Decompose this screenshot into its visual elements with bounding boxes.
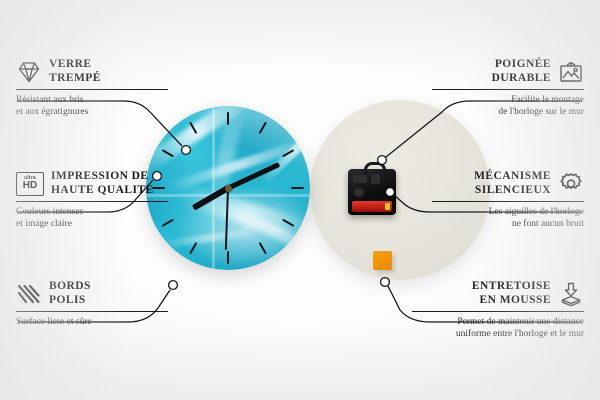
callout-rule	[16, 89, 168, 90]
callout-title: VERRETREMPÉ	[49, 58, 101, 85]
callout-title: BORDSPOLIS	[49, 280, 91, 307]
callout-description: Les aiguilles de l'horlogene font aucun …	[432, 206, 584, 230]
diamond-icon	[16, 59, 42, 85]
clock-tick	[259, 122, 267, 134]
callout-entretoise-en-mousse[interactable]: ENTRETOISEEN MOUSSE Permet de maintenir …	[412, 280, 584, 340]
callout-header: ultra HD IMPRESSION DEHAUTE QUALITÉ	[16, 170, 168, 197]
polished-edges-icon	[16, 281, 42, 307]
foam-spacer	[373, 251, 392, 270]
callout-description: Facilite le montagede l'horloge sur le m…	[432, 94, 584, 118]
feather-texture	[154, 226, 264, 249]
clock-tick	[227, 112, 229, 125]
clock-face	[146, 106, 310, 270]
callout-rule	[432, 89, 584, 90]
callout-rule	[16, 201, 168, 202]
callout-mecanisme-silencieux[interactable]: MÉCANISMESILENCIEUX Les aiguilles de l'h…	[432, 170, 584, 230]
picture-frame-icon	[558, 59, 584, 85]
clock-tick	[259, 242, 267, 254]
callout-header: VERRETREMPÉ	[16, 58, 168, 85]
ultra-hd-icon: ultra HD	[16, 172, 44, 196]
callout-rule	[412, 311, 584, 312]
callout-title: ENTRETOISEEN MOUSSE	[472, 280, 551, 307]
glass-reflection	[212, 106, 215, 270]
callout-rule	[16, 311, 168, 312]
callout-header: MÉCANISMESILENCIEUX	[432, 170, 584, 197]
callout-impression-haute-qualite[interactable]: ultra HD IMPRESSION DEHAUTE QUALITÉ Coul…	[16, 170, 168, 230]
callout-header: POIGNÉEDURABLE	[432, 58, 584, 85]
clock-tick	[227, 251, 229, 264]
callout-header: BORDSPOLIS	[16, 280, 168, 307]
callout-description: Permet de maintenir une distanceuniforme…	[412, 316, 584, 340]
mechanism-detail	[354, 188, 364, 197]
mechanism-detail	[353, 175, 367, 183]
callout-description: Résistant aux briset aux égratignures	[16, 94, 168, 118]
callout-verre-trempe[interactable]: VERRETREMPÉ Résistant aux briset aux égr…	[16, 58, 168, 118]
callout-bords-polis[interactable]: BORDSPOLIS Surface lisse et sûre	[16, 280, 168, 328]
callout-title: POIGNÉEDURABLE	[492, 58, 551, 85]
clock-center-hub	[225, 185, 232, 192]
callout-header: ENTRETOISEEN MOUSSE	[412, 280, 584, 307]
callout-title: IMPRESSION DEHAUTE QUALITÉ	[51, 170, 154, 197]
callout-title: MÉCANISMESILENCIEUX	[474, 170, 551, 197]
callout-rule	[432, 201, 584, 202]
battery	[352, 201, 392, 212]
mechanism-detail	[371, 174, 380, 184]
clock-tick	[291, 187, 304, 189]
foam-spacer-icon	[558, 281, 584, 307]
battery-terminal	[385, 203, 390, 210]
callout-description: Surface lisse et sûre	[16, 316, 168, 328]
callout-description: Couleurs intenseset image claire	[16, 206, 168, 230]
clock-mechanism	[348, 169, 396, 215]
infographic-canvas: VERRETREMPÉ Résistant aux briset aux égr…	[0, 0, 600, 400]
callout-poignee-durable[interactable]: POIGNÉEDURABLE Facilite le montagede l'h…	[432, 58, 584, 118]
gear-icon	[558, 171, 584, 197]
